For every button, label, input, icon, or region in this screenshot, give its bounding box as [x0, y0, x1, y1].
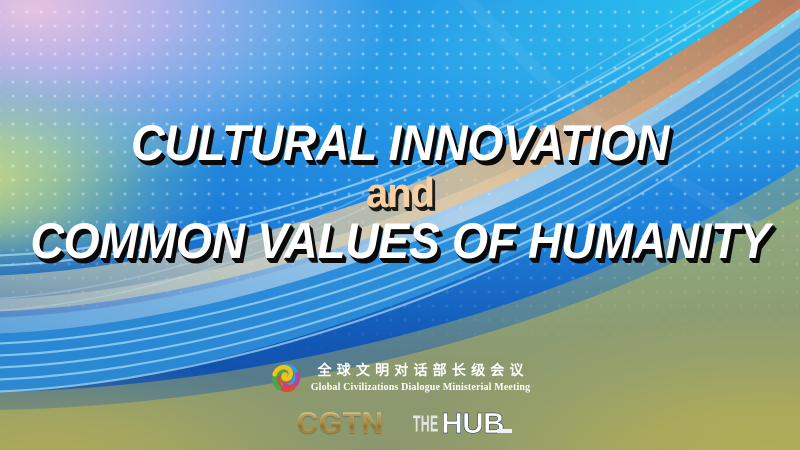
headline-conjunction: and: [20, 172, 780, 214]
broadcaster-row: CGTN THE HUB: [0, 408, 800, 440]
the-hub-prefix: THE: [412, 412, 438, 435]
event-name-english: Global Civilizations Dialogue Ministeria…: [311, 381, 531, 394]
event-lockup: 全球文明对话部长级会议 Global Civilizations Dialogu…: [0, 362, 800, 394]
the-hub-underline-mark: [497, 429, 512, 433]
headline-block: CULTURAL INNOVATION and COMMON VALUES OF…: [0, 118, 800, 266]
headline-line-1: CULTURAL INNOVATION: [28, 118, 772, 168]
event-name-chinese: 全球文明对话部长级会议: [312, 362, 528, 380]
the-hub-wordmark: THE HUB: [410, 408, 504, 440]
global-civilizations-pinwheel-icon: [270, 362, 302, 394]
title-card: CULTURAL INNOVATION and COMMON VALUES OF…: [0, 0, 800, 450]
the-hub-name: HUB: [441, 410, 504, 439]
headline-line-3: COMMON VALUES OF HUMANITY: [28, 216, 772, 266]
event-name-block: 全球文明对话部长级会议 Global Civilizations Dialogu…: [311, 362, 531, 394]
cgtn-wordmark: CGTN: [297, 409, 384, 439]
